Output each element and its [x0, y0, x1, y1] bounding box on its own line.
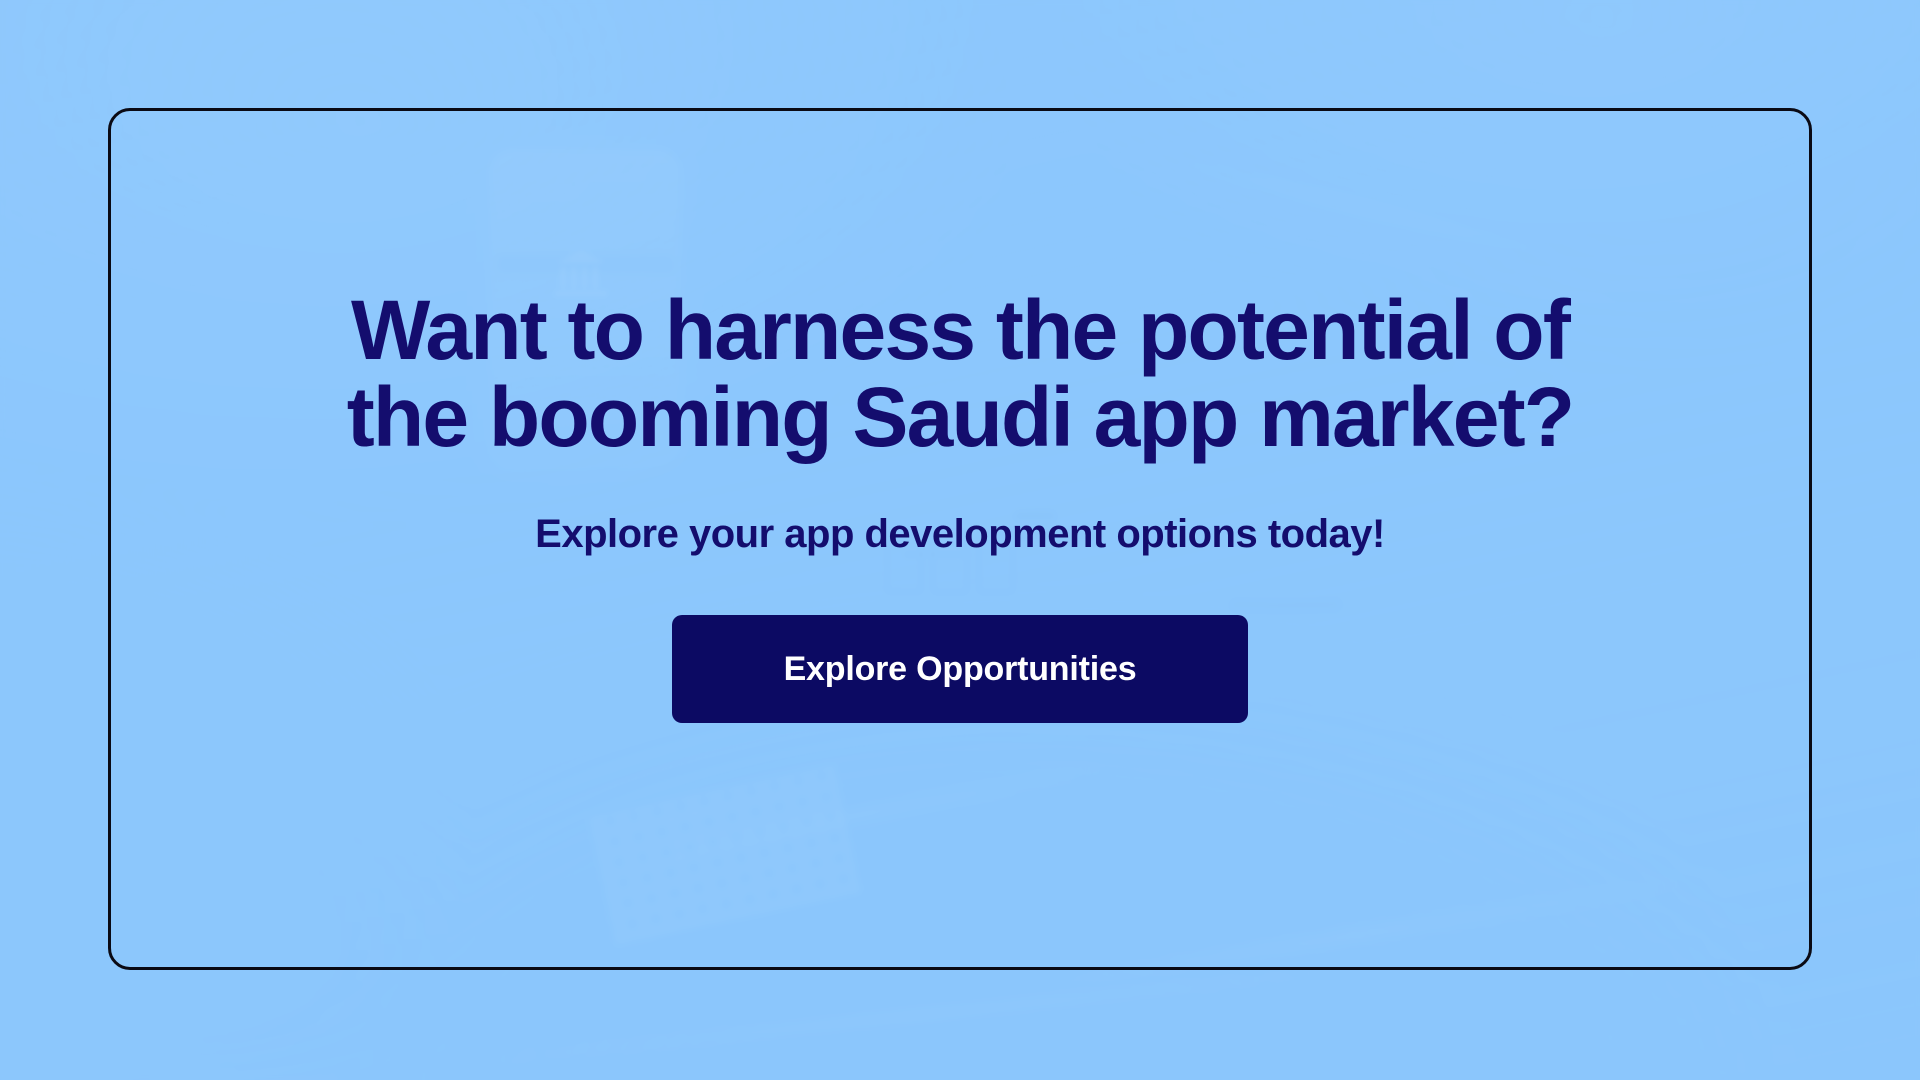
explore-opportunities-button[interactable]: Explore Opportunities — [672, 615, 1248, 723]
subheadline: Explore your app development options tod… — [535, 512, 1385, 557]
headline-line-2: the booming Saudi app market? — [347, 374, 1574, 461]
cta-content: Want to harness the potential of the boo… — [111, 111, 1809, 967]
headline-line-1: Want to harness the potential of — [347, 287, 1574, 374]
page-title: Want to harness the potential of the boo… — [347, 287, 1574, 460]
cta-frame-border: Want to harness the potential of the boo… — [108, 108, 1812, 970]
